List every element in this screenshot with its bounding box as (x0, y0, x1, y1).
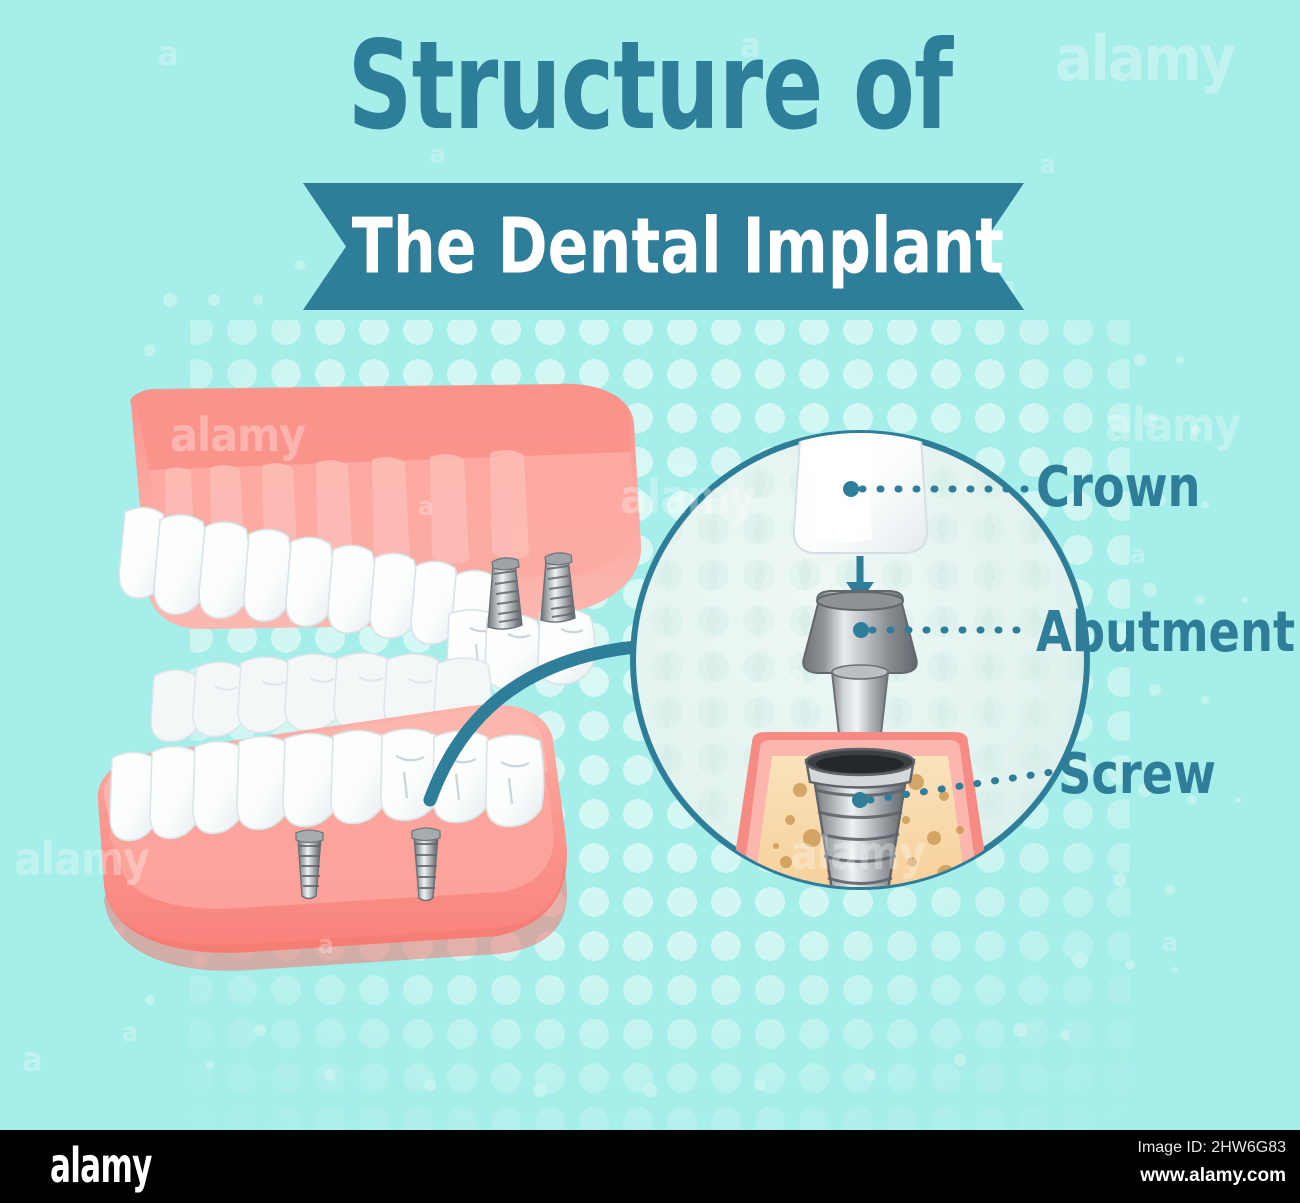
crown-marker (843, 481, 859, 497)
ribbon-title: The Dental Implant (303, 202, 1024, 291)
alamy-footer-bar: alamy Image ID: 2HW6G83 www.alamy.com (0, 1130, 1300, 1203)
screw-marker (852, 792, 868, 808)
abutment-marker (853, 622, 869, 638)
screw-component (806, 749, 914, 919)
title-ribbon: The Dental Implant (303, 183, 1024, 310)
upper-jaw (119, 384, 641, 689)
page-title: Structure of (117, 22, 1183, 151)
label-crown: Crown (1036, 455, 1215, 520)
image-id: Image ID: 2HW6G83 (1138, 1139, 1287, 1157)
title-block: Structure of (0, 22, 1300, 151)
label-screw: Screw (1058, 742, 1230, 807)
alamy-logo: alamy (50, 1138, 152, 1194)
dental-implant-illustration (0, 0, 1300, 1130)
label-abutment: Abutment (1036, 600, 1300, 665)
alamy-url[interactable]: www.alamy.com (1140, 1165, 1286, 1187)
infographic-canvas: Structure of The Dental Implant (0, 0, 1300, 1203)
